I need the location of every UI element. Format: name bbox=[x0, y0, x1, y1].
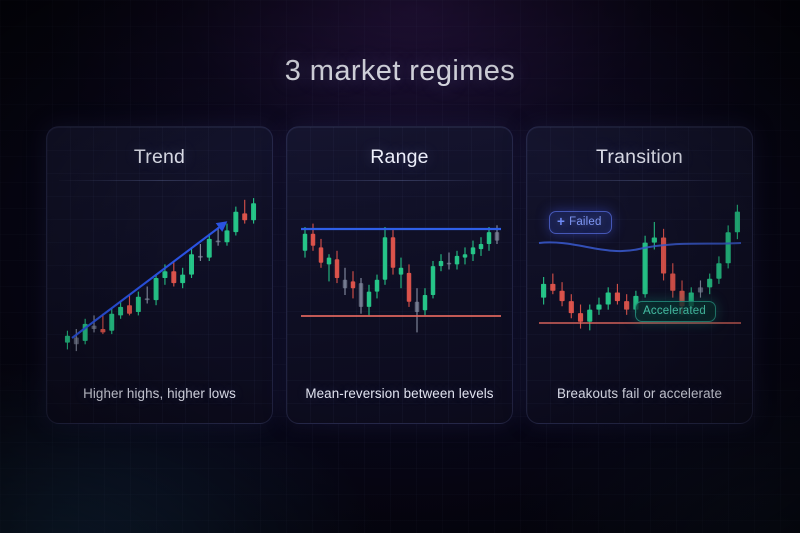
candle-body bbox=[162, 271, 167, 278]
candle-body bbox=[559, 291, 564, 301]
candle-body bbox=[399, 268, 403, 275]
candle-body bbox=[311, 234, 315, 246]
candle-body bbox=[487, 232, 491, 244]
candle-body bbox=[455, 256, 459, 265]
badge-accelerated-label: Accelerated bbox=[643, 305, 706, 317]
card-caption-trend: Higher highs, higher lows bbox=[55, 386, 264, 401]
candle-body bbox=[407, 273, 411, 302]
card-divider bbox=[59, 180, 260, 181]
candle-body bbox=[118, 307, 123, 316]
candle-body bbox=[652, 237, 657, 242]
candle-body bbox=[100, 329, 105, 332]
regime-card-transition[interactable]: Transition + Failed Accelerated bbox=[526, 126, 753, 424]
candle-body bbox=[335, 259, 339, 278]
candle-body bbox=[643, 243, 648, 295]
candle-body bbox=[224, 230, 229, 242]
badge-failed[interactable]: + Failed bbox=[549, 211, 612, 234]
candle-body bbox=[319, 247, 323, 262]
candle-body bbox=[735, 212, 740, 233]
candle-body bbox=[463, 254, 467, 257]
candle-body bbox=[207, 239, 212, 258]
card-caption-transition: Breakouts fail or accelerate bbox=[535, 386, 744, 401]
candle-body bbox=[171, 271, 176, 283]
candle-body bbox=[109, 314, 114, 331]
candle-body bbox=[707, 279, 712, 288]
candle-body bbox=[242, 213, 247, 220]
candle-body bbox=[391, 237, 395, 268]
candle-body bbox=[198, 256, 203, 258]
chart-range bbox=[287, 183, 513, 373]
candlestick-series bbox=[65, 198, 256, 351]
candle-body bbox=[303, 234, 307, 251]
candle-body bbox=[359, 283, 363, 307]
candle-body bbox=[578, 313, 583, 322]
candle-body bbox=[596, 305, 601, 310]
candle-body bbox=[606, 292, 611, 304]
candle-body bbox=[216, 241, 221, 243]
candle-body bbox=[65, 336, 70, 343]
candle-body bbox=[367, 292, 371, 307]
candle-body bbox=[383, 237, 387, 280]
failed-breakout-curve bbox=[539, 242, 741, 251]
regime-card-trend[interactable]: Trend Higher highs, higher lows bbox=[46, 126, 273, 424]
rocket-icon bbox=[713, 275, 753, 424]
card-title-transition: Transition bbox=[527, 146, 752, 169]
badge-failed-label: Failed bbox=[569, 216, 602, 228]
candle-body bbox=[439, 261, 443, 266]
candle-body bbox=[423, 295, 427, 310]
candle-body bbox=[670, 274, 675, 291]
badge-accelerated[interactable]: Accelerated bbox=[635, 301, 716, 322]
candle-body bbox=[180, 275, 185, 284]
candle-body bbox=[74, 338, 79, 345]
candle-body bbox=[550, 284, 555, 291]
candle-body bbox=[343, 280, 347, 289]
card-divider bbox=[539, 180, 740, 181]
plus-icon: + bbox=[557, 215, 565, 229]
candle-body bbox=[479, 244, 483, 249]
candle-body bbox=[431, 266, 435, 295]
candle-body bbox=[375, 280, 379, 292]
candle-body bbox=[351, 281, 355, 288]
regime-card-list: Trend Higher highs, higher lows Range bbox=[46, 126, 754, 424]
candle-body bbox=[415, 302, 419, 312]
candle-body bbox=[154, 278, 159, 300]
card-title-trend: Trend bbox=[47, 146, 272, 169]
candle-body bbox=[251, 203, 256, 220]
candle-body bbox=[127, 305, 132, 314]
candle-body bbox=[624, 301, 629, 310]
regime-card-range[interactable]: Range Mean-reversion between levels bbox=[286, 126, 513, 424]
candle-body bbox=[327, 258, 331, 265]
candle-body bbox=[495, 232, 499, 241]
screenshot-canvas: 3 market regimes Trend Higher highs, hig… bbox=[0, 0, 800, 533]
candle-body bbox=[698, 287, 703, 292]
candle-body bbox=[145, 298, 150, 300]
candle-body bbox=[541, 284, 546, 298]
candle-body bbox=[92, 326, 97, 329]
trend-arrow bbox=[72, 223, 225, 338]
candle-body bbox=[661, 237, 666, 273]
card-divider bbox=[299, 180, 500, 181]
page-title: 3 market regimes bbox=[0, 55, 800, 88]
card-caption-range: Mean-reversion between levels bbox=[295, 386, 504, 401]
candle-body bbox=[587, 310, 592, 322]
chart-transition: + Failed Accelerated bbox=[527, 183, 753, 373]
candle-body bbox=[447, 263, 451, 265]
chart-trend bbox=[47, 183, 273, 373]
card-title-range: Range bbox=[287, 146, 512, 169]
candle-body bbox=[136, 297, 141, 312]
candle-body bbox=[189, 254, 194, 274]
candle-body bbox=[233, 212, 238, 232]
candle-body bbox=[726, 232, 731, 263]
candle-body bbox=[569, 301, 574, 313]
candle-body bbox=[615, 292, 620, 301]
candle-body bbox=[471, 247, 475, 254]
